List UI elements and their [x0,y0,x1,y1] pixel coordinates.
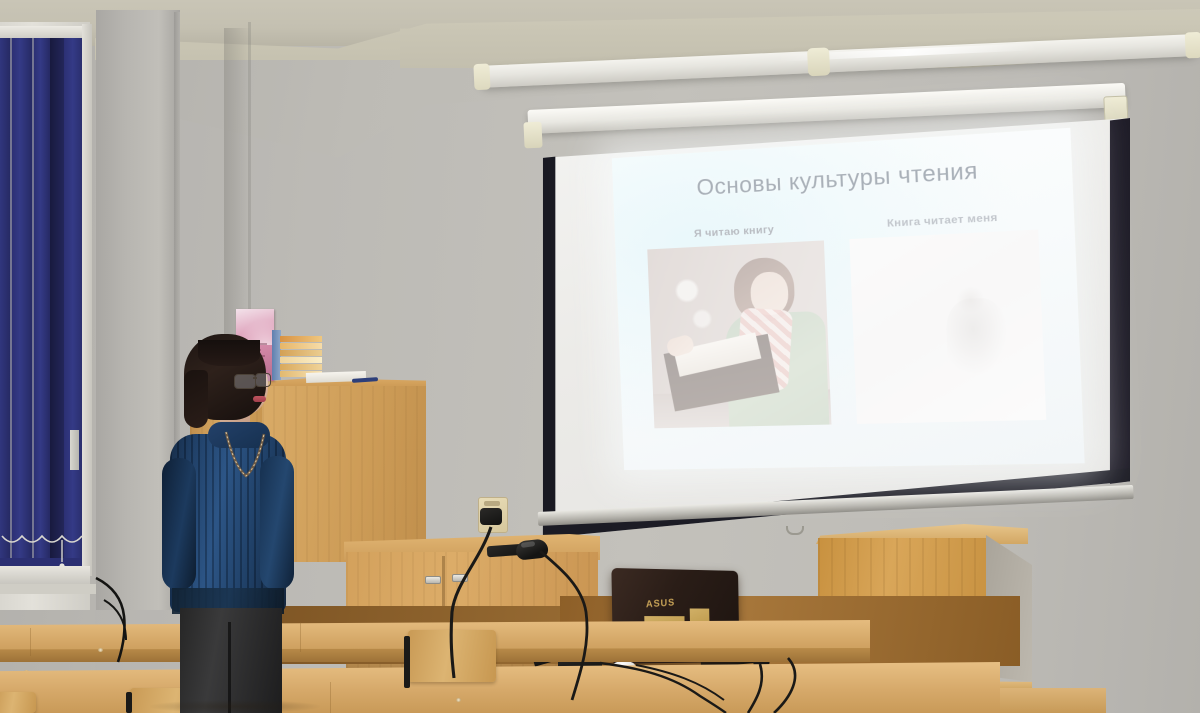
baseboard [0,584,96,594]
chair-frame [126,692,132,713]
window-blinds-panel[interactable] [0,28,82,576]
desk-fastener [98,648,103,652]
glasses-bridge [253,377,257,379]
presenter-lips [253,396,266,402]
desk-panel-seam [30,628,31,656]
projected-slide: Основы культуры чтения Я читаю книгу [612,128,1085,470]
presenter-arm-left [162,458,196,590]
presenter-hair-side [184,370,208,428]
window-mullion [82,24,92,576]
slide-image-reading-woman [647,240,831,428]
power-plug[interactable] [480,508,502,525]
screen-bracket-left [523,122,542,149]
window-latch[interactable] [70,430,79,470]
blind-slat[interactable] [12,38,32,558]
presenter-necklace [222,430,268,486]
blind-slat[interactable] [34,38,50,558]
chair-backrest[interactable] [408,630,496,682]
presenter-trousers [180,608,282,713]
presenter-shadow [150,700,320,713]
blind-slat[interactable] [64,38,82,558]
chair-frame [404,636,410,688]
outlet-slot [484,501,500,506]
blinds-headrail[interactable] [0,26,84,38]
cabinet-handle-right[interactable] [452,574,468,582]
photo-washout-overlay [849,229,1046,423]
desk-fastener [456,698,461,702]
desk-panel-seam [330,682,331,713]
photo-washout-overlay [647,240,831,428]
blind-slat[interactable] [0,38,10,558]
presenter [150,330,330,713]
blind-slat-shadow [50,38,64,558]
slide-column-right: Книга читает меня [849,209,1047,424]
presenter-hair-fringe [198,340,260,366]
slide-column-left: Я читаю книгу [647,221,832,429]
tube-joint [807,47,830,76]
slide-image-dark-figure [849,229,1046,423]
tube-endcap-right [1185,32,1200,59]
cabinet-handle-left[interactable] [425,576,441,584]
chair-backrest[interactable] [0,692,36,713]
classroom-photo: Основы культуры чтения Я читаю книгу [0,0,1200,713]
glasses-lens-right [255,373,271,387]
tube-endcap-left [473,63,490,90]
laptop-brand-logo: ASUS [646,598,675,611]
window-sill [0,566,90,584]
